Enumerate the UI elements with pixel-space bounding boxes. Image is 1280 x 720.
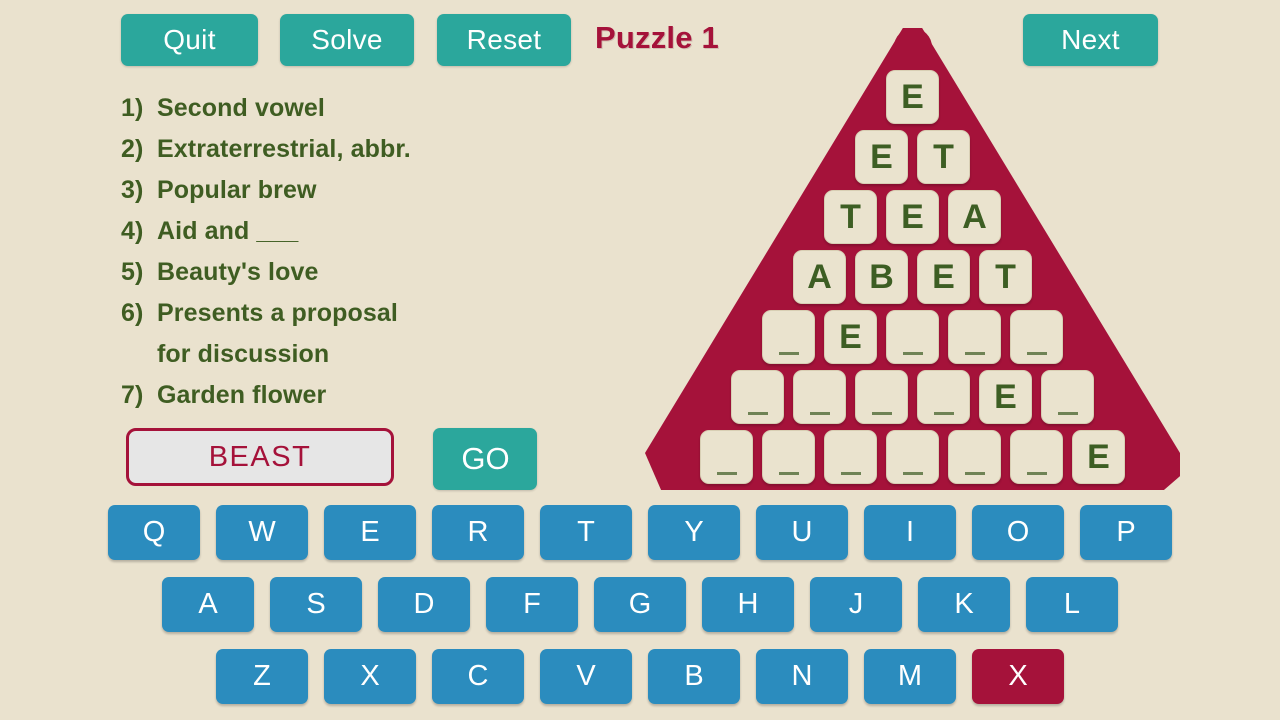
pyramid-tile-letter: E (887, 191, 938, 245)
pyramid-tile-filled[interactable]: B (855, 250, 908, 304)
pyramid-tile-filled[interactable]: E (886, 190, 939, 244)
clue-list: 1)Second vowel2)Extraterrestrial, abbr.3… (121, 88, 641, 416)
pyramid-tile-letter: B (856, 251, 907, 305)
clue-number: 6) (121, 293, 157, 334)
pyramid-tile-empty[interactable] (793, 370, 846, 424)
pyramid-tile-letter: A (794, 251, 845, 305)
keyboard-key-j[interactable]: J (810, 577, 902, 632)
answer-entry-row: GO (126, 428, 537, 490)
keyboard-key-h[interactable]: H (702, 577, 794, 632)
solve-button[interactable]: Solve (280, 14, 414, 66)
pyramid-tile-empty[interactable] (762, 430, 815, 484)
keyboard-row: QWERTYUIOP (0, 505, 1280, 560)
pyramid-tile-filled[interactable]: A (948, 190, 1001, 244)
keyboard-row: ZXCVBNMX (0, 649, 1280, 704)
keyboard-key-r[interactable]: R (432, 505, 524, 560)
clue-text: Aid and ___ (157, 211, 298, 252)
pyramid-tile-filled[interactable]: E (917, 250, 970, 304)
pyramid-tile-letter: A (949, 191, 1000, 245)
pyramid-tile-blank-underscore (1027, 352, 1047, 355)
pyramid-tile-empty[interactable] (1010, 310, 1063, 364)
pyramid-tile-blank-underscore (965, 352, 985, 355)
pyramid-tile-letter: E (1073, 431, 1124, 485)
pyramid-tile-blank-underscore (903, 472, 923, 475)
clue-item: 1)Second vowel (121, 88, 641, 129)
pyramid-tile-blank-underscore (1058, 412, 1078, 415)
keyboard-key-b[interactable]: B (648, 649, 740, 704)
clue-text: for discussion (157, 334, 329, 375)
pyramid-tile-letter: E (856, 131, 907, 185)
keyboard-key-c[interactable]: C (432, 649, 524, 704)
pyramid-tile-blank-underscore (841, 472, 861, 475)
pyramid-row: TEA (645, 190, 1180, 248)
clue-text: Presents a proposal (157, 293, 398, 334)
pyramid-tile-empty[interactable] (855, 370, 908, 424)
keyboard-key-s[interactable]: S (270, 577, 362, 632)
pyramid-tile-empty[interactable] (731, 370, 784, 424)
pyramid-tile-empty[interactable] (948, 430, 1001, 484)
clue-text: Extraterrestrial, abbr. (157, 129, 411, 170)
pyramid-tile-filled[interactable]: E (855, 130, 908, 184)
pyramid-row: E (645, 370, 1180, 428)
keyboard-key-t[interactable]: T (540, 505, 632, 560)
clue-item: 2)Extraterrestrial, abbr. (121, 129, 641, 170)
pyramid-tile-filled[interactable]: T (917, 130, 970, 184)
go-button[interactable]: GO (433, 428, 537, 490)
keyboard-key-f[interactable]: F (486, 577, 578, 632)
pyramid-tile-filled[interactable]: E (979, 370, 1032, 424)
keyboard-key-n[interactable]: N (756, 649, 848, 704)
pyramid-tile-letter: E (887, 71, 938, 125)
pyramid-tile-letter: T (825, 191, 876, 245)
clue-item: 5)Beauty's love (121, 252, 641, 293)
pyramid-tile-empty[interactable] (1041, 370, 1094, 424)
keyboard-key-y[interactable]: Y (648, 505, 740, 560)
pyramid-tile-letter: E (918, 251, 969, 305)
pyramid-row: E (645, 70, 1180, 128)
keyboard-key-g[interactable]: G (594, 577, 686, 632)
keyboard-row: ASDFGHJKL (0, 577, 1280, 632)
pyramid-tile-blank-underscore (717, 472, 737, 475)
keyboard-key-l[interactable]: L (1026, 577, 1118, 632)
keyboard-delete-key[interactable]: X (972, 649, 1064, 704)
clue-number: 7) (121, 375, 157, 416)
pyramid-row: E (645, 310, 1180, 368)
pyramid-tile-blank-underscore (965, 472, 985, 475)
keyboard-key-o[interactable]: O (972, 505, 1064, 560)
pyramid-tile-filled[interactable]: A (793, 250, 846, 304)
pyramid-rows: EETTEAABETEEE (645, 28, 1180, 490)
keyboard-key-d[interactable]: D (378, 577, 470, 632)
pyramid-tile-filled[interactable]: E (1072, 430, 1125, 484)
pyramid-tile-blank-underscore (748, 412, 768, 415)
pyramid-tile-filled[interactable]: T (824, 190, 877, 244)
pyramid-tile-filled[interactable]: E (886, 70, 939, 124)
pyramid-tile-blank-underscore (810, 412, 830, 415)
keyboard-key-a[interactable]: A (162, 577, 254, 632)
pyramid-tile-empty[interactable] (886, 310, 939, 364)
clue-text: Popular brew (157, 170, 317, 211)
clue-item: 4)Aid and ___ (121, 211, 641, 252)
clue-text: Beauty's love (157, 252, 318, 293)
keyboard-key-q[interactable]: Q (108, 505, 200, 560)
clue-item: 6)Presents a proposal (121, 293, 641, 334)
keyboard-key-i[interactable]: I (864, 505, 956, 560)
pyramid-tile-empty[interactable] (762, 310, 815, 364)
pyramid-tile-letter: E (825, 311, 876, 365)
reset-button[interactable]: Reset (437, 14, 571, 66)
pyramid-tile-empty[interactable] (700, 430, 753, 484)
clue-number: 3) (121, 170, 157, 211)
pyramid-tile-filled[interactable]: E (824, 310, 877, 364)
pyramid-tile-empty[interactable] (824, 430, 877, 484)
keyboard-key-p[interactable]: P (1080, 505, 1172, 560)
pyramid-tile-letter: T (918, 131, 969, 185)
pyramid-row: ET (645, 130, 1180, 188)
pyramid-tile-blank-underscore (1027, 472, 1047, 475)
pyramid-tile-empty[interactable] (948, 310, 1001, 364)
pyramid-tile-letter: E (980, 371, 1031, 425)
pyramid-tile-blank-underscore (903, 352, 923, 355)
pyramid-tile-blank-underscore (779, 472, 799, 475)
pyramid-tile-letter: T (980, 251, 1031, 305)
keyboard-key-v[interactable]: V (540, 649, 632, 704)
clue-item: 7)Garden flower (121, 375, 641, 416)
keyboard-key-w[interactable]: W (216, 505, 308, 560)
word-pyramid: EETTEAABETEEE (645, 28, 1180, 490)
keyboard-key-k[interactable]: K (918, 577, 1010, 632)
pyramid-tile-blank-underscore (934, 412, 954, 415)
pyramid-row: ABET (645, 250, 1180, 308)
pyramid-tile-empty[interactable] (1010, 430, 1063, 484)
pyramid-tile-filled[interactable]: T (979, 250, 1032, 304)
clue-text: Garden flower (157, 375, 326, 416)
clue-text: Second vowel (157, 88, 325, 129)
keyboard-key-z[interactable]: Z (216, 649, 308, 704)
keyboard-key-m[interactable]: M (864, 649, 956, 704)
keyboard-key-u[interactable]: U (756, 505, 848, 560)
pyramid-tile-empty[interactable] (886, 430, 939, 484)
clue-item: 3)Popular brew (121, 170, 641, 211)
pyramid-tile-blank-underscore (872, 412, 892, 415)
keyboard-key-x[interactable]: X (324, 649, 416, 704)
pyramid-row: E (645, 430, 1180, 488)
clue-number: 4) (121, 211, 157, 252)
clue-number: 5) (121, 252, 157, 293)
clue-number: 1) (121, 88, 157, 129)
keyboard-key-e[interactable]: E (324, 505, 416, 560)
answer-input[interactable] (126, 428, 394, 486)
clue-item: 6)for discussion (121, 334, 641, 375)
pyramid-tile-empty[interactable] (917, 370, 970, 424)
pyramid-tile-blank-underscore (779, 352, 799, 355)
quit-button[interactable]: Quit (121, 14, 258, 66)
clue-number: 2) (121, 129, 157, 170)
